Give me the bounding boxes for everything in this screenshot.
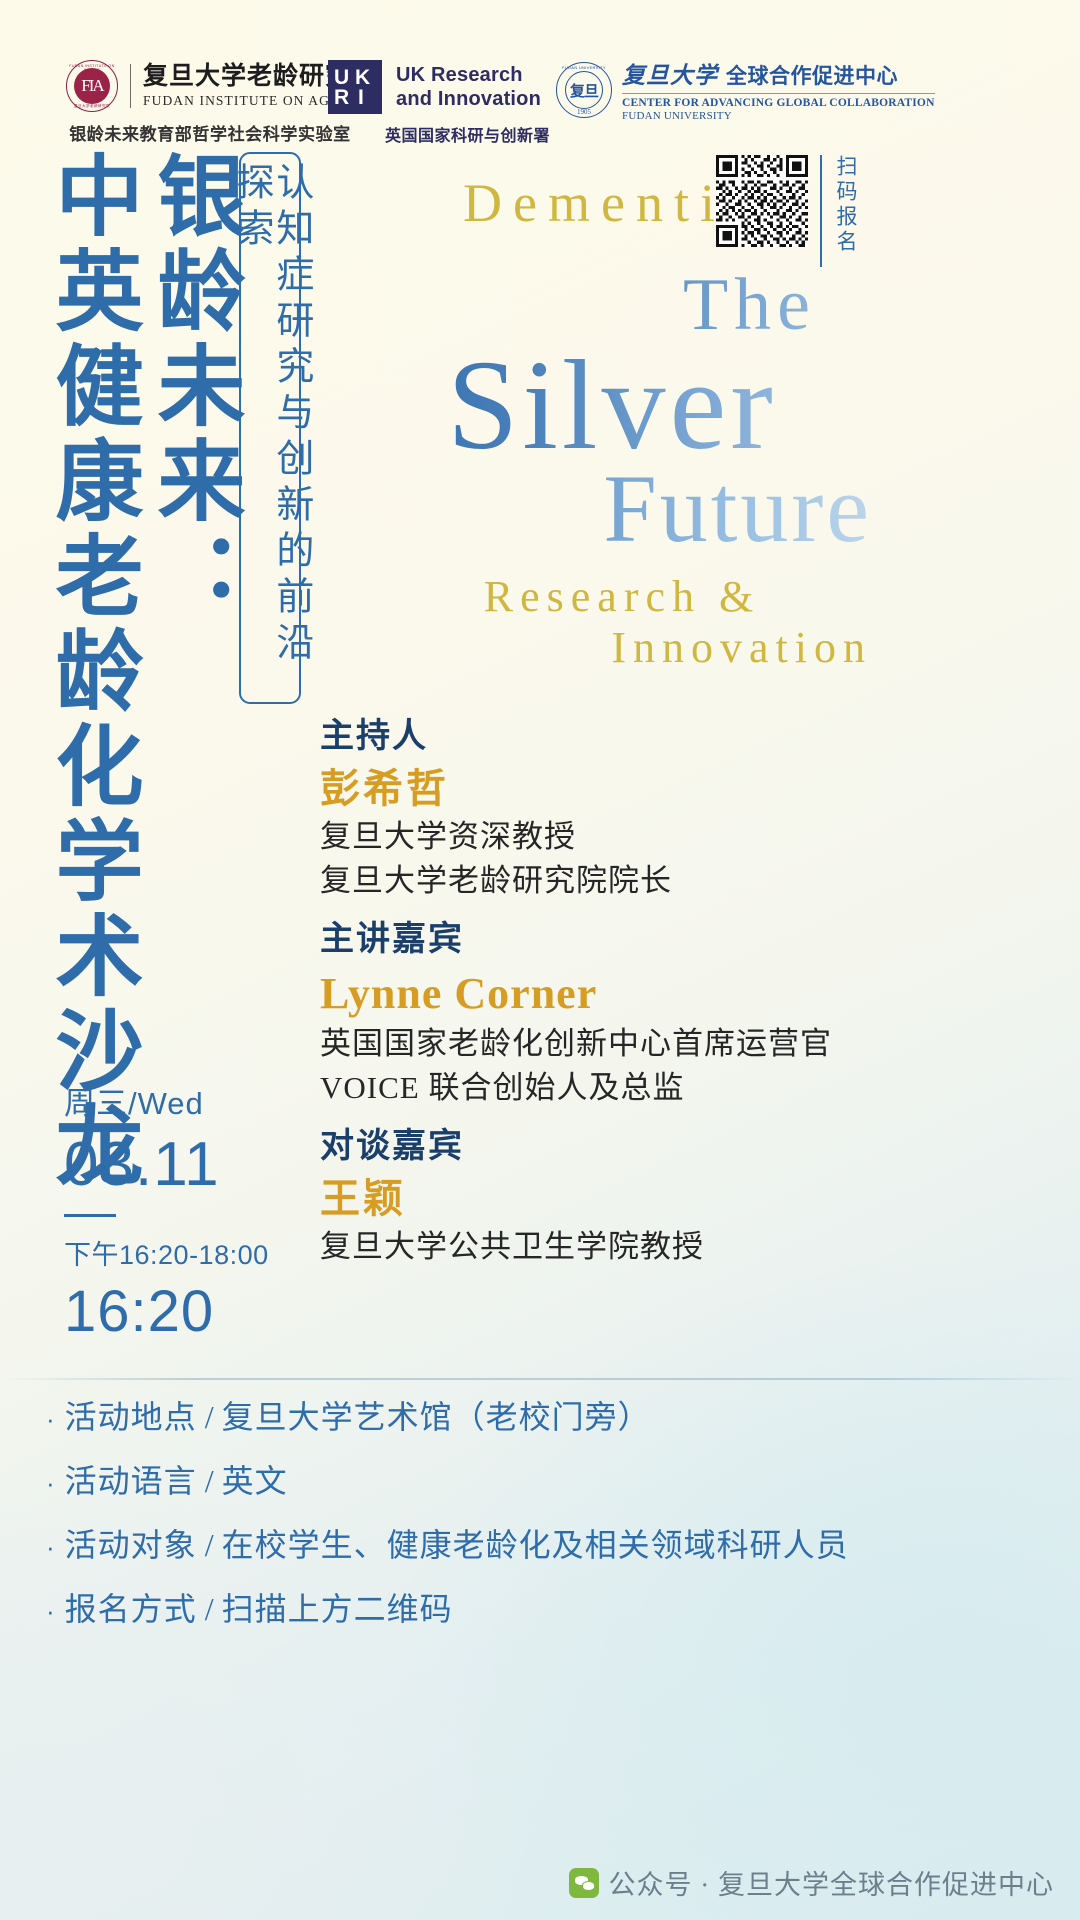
- detail-value: 英文: [222, 1456, 288, 1502]
- detail-value: 复旦大学艺术馆（老校门旁）: [222, 1392, 651, 1438]
- fudan-university-en: FUDAN UNIVERSITY: [622, 110, 935, 124]
- detail-row-registration: · 报名方式 / 扫描上方二维码: [46, 1584, 1046, 1630]
- ukri-wordmark: UK Research and Innovation: [396, 63, 541, 111]
- speaker-name: Lynne Corner: [320, 965, 940, 1022]
- speaker-affiliation: 复旦大学公共卫生学院教授: [320, 1225, 940, 1269]
- event-time-range: 下午16:20-18:00: [64, 1233, 304, 1272]
- detail-row-language: · 活动语言 / 英文: [46, 1456, 1046, 1502]
- detail-row-venue: · 活动地点 / 复旦大学艺术馆（老校门旁）: [46, 1392, 1046, 1438]
- speaker-keynote: 主讲嘉宾 Lynne Corner 英国国家老龄化创新中心首席运营官 VOICE…: [320, 919, 940, 1111]
- ukri-line1: UK Research: [396, 63, 541, 87]
- detail-separator: /: [205, 1591, 214, 1628]
- detail-key: 活动语言: [65, 1456, 197, 1502]
- subtitle-box: 认知症研究与创新的前沿探索: [239, 152, 301, 704]
- logo-fudan-global-collaboration: FUDAN UNIVERSITY 复旦 1905 复旦大学 全球合作促进中心 C…: [556, 56, 935, 124]
- title-column-right: 银龄未来：: [148, 150, 236, 1195]
- datetime-divider: [64, 1214, 116, 1217]
- ukri-letter-i: I: [358, 87, 364, 108]
- speaker-discussant: 对谈嘉宾 王颖 复旦大学公共卫生学院教授: [320, 1126, 940, 1269]
- event-start-time: 16:20: [64, 1278, 304, 1345]
- fudan-seal-ring-text: FUDAN UNIVERSITY: [557, 65, 611, 70]
- fia-divider: [130, 64, 131, 108]
- detail-row-audience: · 活动对象 / 在校学生、健康老龄化及相关领域科研人员: [46, 1520, 1046, 1566]
- speaker-name: 彭希哲: [320, 763, 940, 815]
- event-datetime-block: 周三/Wed 03.11 下午16:20-18:00 16:20: [64, 1078, 304, 1345]
- footer-divider: [0, 1378, 1080, 1380]
- fudan-seal-year: 1905: [557, 108, 611, 116]
- speaker-affiliation: 复旦大学资深教授: [320, 815, 940, 859]
- wechat-icon: [569, 1868, 599, 1898]
- fia-lab-subtitle: 银龄未来教育部哲学社会科学实验室: [60, 120, 360, 145]
- detail-separator: /: [205, 1527, 214, 1564]
- fia-seal-ring-bottom: 复旦大学老龄研究院: [67, 104, 117, 109]
- subtitle-text: 认知症研究与创新的前沿探索: [230, 162, 310, 702]
- ukri-letter-k: K: [355, 67, 370, 88]
- fia-seal-ring-top: FUDAN INSTITUTE ON AGEING: [67, 64, 117, 72]
- hero-innovation: Innovation: [352, 623, 872, 674]
- detail-value: 扫描上方二维码: [222, 1584, 453, 1630]
- ukri-mark-icon: U K R I: [328, 60, 382, 114]
- speaker-role-label: 主讲嘉宾: [320, 919, 940, 962]
- fia-seal-glyph: FIA: [81, 76, 102, 96]
- bullet-icon: ·: [46, 1470, 55, 1496]
- qr-label-text: 扫码报名: [831, 155, 861, 255]
- poster-canvas: FUDAN INSTITUTE ON AGEING FIA 复旦大学老龄研究院 …: [0, 0, 1080, 1920]
- detail-separator: /: [205, 1399, 214, 1436]
- fudan-seal-icon: FUDAN UNIVERSITY 复旦 1905: [556, 62, 612, 118]
- speaker-affiliation: VOICE 联合创始人及总监: [320, 1066, 940, 1110]
- fudan-center-en: CENTER FOR ADVANCING GLOBAL COLLABORATIO…: [622, 96, 935, 110]
- fudan-wordmark: 复旦大学 全球合作促进中心 CENTER FOR ADVANCING GLOBA…: [622, 56, 935, 124]
- bullet-icon: ·: [46, 1598, 55, 1624]
- detail-value: 在校学生、健康老龄化及相关领域科研人员: [222, 1520, 849, 1566]
- speaker-role-label: 对谈嘉宾: [320, 1126, 940, 1169]
- logo-bar: FUDAN INSTITUTE ON AGEING FIA 复旦大学老龄研究院 …: [0, 52, 1080, 152]
- ukri-name-cn: 英国国家科研与创新署: [385, 122, 550, 146]
- speaker-affiliation: 英国国家老龄化创新中心首席运营官: [320, 1022, 940, 1066]
- ukri-letter-r: R: [334, 87, 349, 108]
- wechat-account-text: 公众号 · 复旦大学全球合作促进中心: [609, 1863, 1055, 1902]
- ukri-letter-u: U: [334, 67, 349, 88]
- hero-research: Research &: [352, 572, 872, 623]
- qr-code-icon[interactable]: [716, 155, 808, 247]
- event-weekday: 周三/Wed: [64, 1078, 304, 1123]
- fudan-seal-glyph: 复旦: [570, 80, 598, 101]
- wechat-account-credit: 公众号 · 复旦大学全球合作促进中心: [569, 1863, 1055, 1902]
- speaker-affiliation: 复旦大学老龄研究院院长: [320, 859, 940, 903]
- qr-label-group: 扫码报名: [820, 155, 861, 267]
- event-details-list: · 活动地点 / 复旦大学艺术馆（老校门旁） · 活动语言 / 英文 · 活动对…: [46, 1392, 1046, 1648]
- event-date: 03.11: [64, 1129, 304, 1200]
- detail-key: 报名方式: [65, 1584, 197, 1630]
- fia-seal-icon: FUDAN INSTITUTE ON AGEING FIA 复旦大学老龄研究院: [66, 60, 118, 112]
- page-title-vertical: 银龄未来： 中英健康老龄化学术沙龙: [46, 150, 236, 1195]
- qr-label-rule: [820, 155, 822, 267]
- fudan-rule: [622, 93, 935, 94]
- speaker-role-label: 主持人: [320, 716, 940, 759]
- ukri-line2: and Innovation: [396, 87, 541, 111]
- fudan-center-cn: 全球合作促进中心: [726, 60, 898, 90]
- detail-key: 活动地点: [65, 1392, 197, 1438]
- detail-key: 活动对象: [65, 1520, 197, 1566]
- logo-ukri: U K R I UK Research and Innovation: [328, 60, 541, 114]
- speaker-host: 主持人 彭希哲 复旦大学资深教授 复旦大学老龄研究院院长: [320, 716, 940, 903]
- speaker-name: 王颖: [320, 1173, 940, 1225]
- detail-separator: /: [205, 1463, 214, 1500]
- bullet-icon: ·: [46, 1406, 55, 1432]
- fudan-script-cn: 复旦大学: [622, 56, 718, 90]
- registration-qr-block[interactable]: 扫码报名: [716, 155, 861, 267]
- hero-future: Future: [352, 460, 872, 558]
- title-column-left: 中英健康老龄化学术沙龙: [46, 150, 134, 1195]
- speaker-list: 主持人 彭希哲 复旦大学资深教授 复旦大学老龄研究院院长 主讲嘉宾 Lynne …: [320, 716, 940, 1269]
- hero-silver: Silver: [352, 340, 872, 471]
- bullet-icon: ·: [46, 1534, 55, 1560]
